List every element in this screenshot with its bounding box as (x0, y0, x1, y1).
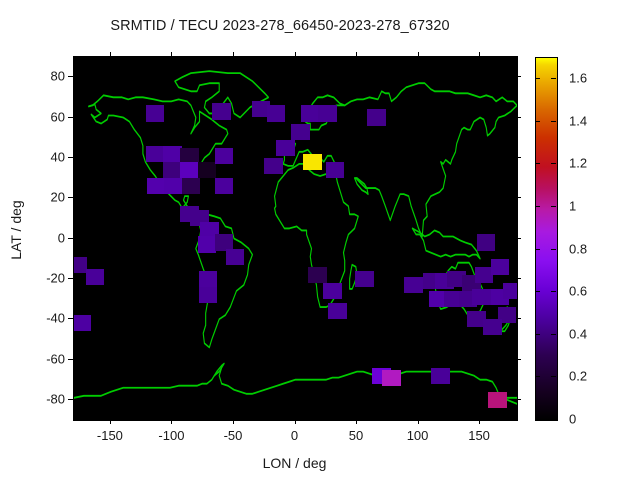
y-axis-tick (516, 76, 521, 77)
colorbar-tick (551, 376, 556, 377)
x-axis-tick-label: 100 (407, 428, 429, 443)
data-cell (198, 236, 216, 252)
x-axis-tick-label: -100 (158, 428, 184, 443)
y-axis-tick (516, 318, 521, 319)
x-axis-tick (171, 52, 172, 57)
y-axis-tick (516, 238, 521, 239)
data-cell (198, 162, 216, 178)
data-cell (146, 146, 164, 162)
y-axis-tick (516, 197, 521, 198)
colorbar-tick-label: 0.4 (569, 326, 587, 341)
data-cell (488, 392, 506, 408)
data-cell (328, 303, 346, 319)
data-cell (199, 271, 217, 287)
x-axis-tick (418, 419, 419, 424)
chart-root: SRMTID / TECU 2023-278_66450-2023-278_67… (0, 0, 640, 480)
x-axis-tick (295, 52, 296, 57)
y-axis-tick-label: -80 (15, 391, 65, 406)
y-axis-tick (516, 157, 521, 158)
y-axis-tick-label: 60 (15, 109, 65, 124)
y-axis-tick-label: -40 (15, 311, 65, 326)
colorbar-tick-label: 1.2 (569, 156, 587, 171)
data-cell (264, 158, 282, 174)
colorbar-tick (535, 163, 540, 164)
y-axis-tick-label: 40 (15, 149, 65, 164)
y-axis-tick (68, 157, 73, 158)
colorbar-tick (535, 249, 540, 250)
data-cell (382, 370, 400, 386)
data-cell (86, 269, 104, 285)
x-axis-tick-label: -150 (97, 428, 123, 443)
colorbar-tick (551, 291, 556, 292)
data-cell (276, 140, 294, 156)
data-cell (146, 105, 164, 121)
y-axis-tick (516, 359, 521, 360)
data-cell (477, 234, 495, 250)
data-cell (323, 283, 341, 299)
colorbar-tick (535, 206, 540, 207)
colorbar-tick-label: 0.6 (569, 284, 587, 299)
data-cell (267, 105, 285, 121)
colorbar-tick (535, 376, 540, 377)
y-axis-tick-label: 80 (15, 69, 65, 84)
data-cell (308, 267, 326, 283)
colorbar-tick (551, 163, 556, 164)
colorbar-tick-label: 0.2 (569, 369, 587, 384)
data-cell (215, 148, 233, 164)
x-axis-tick (356, 419, 357, 424)
data-cell (147, 178, 165, 194)
colorbar-tick (551, 334, 556, 335)
x-axis-tick (233, 419, 234, 424)
data-cell (483, 319, 501, 335)
data-cell (163, 162, 181, 178)
data-cell (199, 287, 217, 303)
x-axis-tick (295, 419, 296, 424)
x-axis-tick (479, 52, 480, 57)
data-cell (355, 271, 373, 287)
data-cell (226, 249, 244, 265)
chart-title: SRMTID / TECU 2023-278_66450-2023-278_67… (0, 18, 560, 34)
x-axis-tick-label: -50 (224, 428, 243, 443)
y-axis-title: LAT / deg (8, 180, 24, 280)
colorbar-tick (535, 121, 540, 122)
data-cell (301, 105, 319, 121)
colorbar-tick-label: 0.8 (569, 241, 587, 256)
y-axis-tick (68, 278, 73, 279)
y-axis-tick (68, 359, 73, 360)
data-cell (367, 109, 385, 125)
colorbar-tick-label: 0 (569, 412, 576, 427)
data-cell (491, 259, 509, 275)
data-cell (431, 368, 449, 384)
y-axis-tick (68, 238, 73, 239)
data-cell (503, 283, 518, 299)
colorbar-tick (535, 78, 540, 79)
data-cell (291, 124, 309, 140)
x-axis-tick (233, 52, 234, 57)
data-cell (215, 178, 233, 194)
colorbar-tick-label: 1.6 (569, 71, 587, 86)
data-cell (472, 289, 490, 305)
data-cell (303, 154, 321, 170)
x-axis-tick-label: 0 (291, 428, 298, 443)
colorbar-tick (535, 291, 540, 292)
colorbar-tick (551, 78, 556, 79)
y-axis-tick (516, 278, 521, 279)
colorbar-tick-label: 1.4 (569, 113, 587, 128)
y-axis-tick (68, 117, 73, 118)
data-cell (180, 162, 198, 178)
data-cell (73, 315, 91, 331)
data-cell-layer (74, 57, 517, 420)
y-axis-tick (68, 197, 73, 198)
colorbar-tick-label: 1 (569, 199, 576, 214)
y-axis-tick (68, 76, 73, 77)
map-plot-area[interactable] (73, 56, 518, 421)
x-axis-tick-label: 150 (468, 428, 490, 443)
x-axis-tick-label: 50 (349, 428, 363, 443)
colorbar-tick (551, 206, 556, 207)
colorbar-tick (535, 334, 540, 335)
x-axis-tick (418, 52, 419, 57)
data-cell (182, 178, 200, 194)
x-axis-tick (110, 419, 111, 424)
x-axis-title: LON / deg (73, 455, 516, 471)
y-axis-tick (516, 117, 521, 118)
colorbar-tick (551, 419, 556, 420)
colorbar-tick (551, 249, 556, 250)
data-cell (212, 103, 230, 119)
colorbar-gradient (536, 58, 557, 420)
y-axis-tick (68, 399, 73, 400)
y-axis-tick (68, 318, 73, 319)
x-axis-tick (479, 419, 480, 424)
y-axis-tick-label: -60 (15, 351, 65, 366)
x-axis-tick (110, 52, 111, 57)
x-axis-tick (356, 52, 357, 57)
data-cell (318, 105, 336, 121)
data-cell (326, 162, 344, 178)
data-cell (404, 277, 422, 293)
colorbar[interactable] (535, 57, 558, 421)
colorbar-tick (551, 121, 556, 122)
x-axis-tick (171, 419, 172, 424)
data-cell (164, 178, 182, 194)
data-cell (163, 146, 181, 162)
colorbar-tick (535, 419, 540, 420)
y-axis-tick (516, 399, 521, 400)
